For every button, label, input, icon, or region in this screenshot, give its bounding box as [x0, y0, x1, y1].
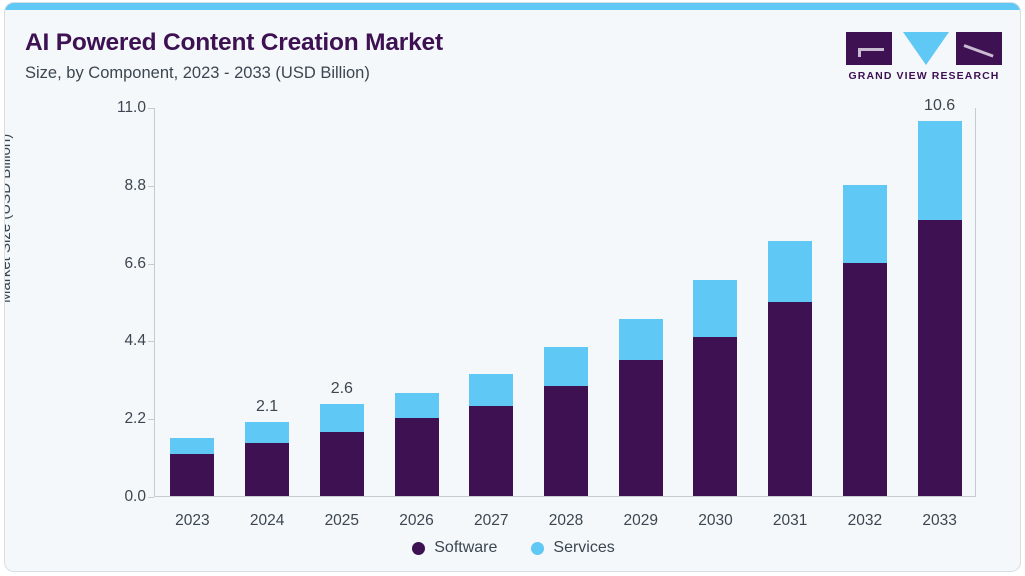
bar-group[interactable]: [544, 347, 588, 496]
bar-segment-software[interactable]: [320, 432, 364, 496]
chart-header: AI Powered Content Creation Market Size,…: [5, 10, 1020, 92]
bar-segment-services[interactable]: [469, 374, 513, 406]
legend-label: Services: [553, 539, 614, 557]
bar-group[interactable]: [768, 241, 812, 496]
logo-blocks: [846, 32, 1002, 65]
logo-g-block-icon: [846, 32, 892, 65]
bar-segment-software[interactable]: [768, 302, 812, 497]
bar-value-label: 2.6: [297, 380, 387, 398]
bar-group[interactable]: 2.1: [245, 422, 289, 496]
y-axis-tick-label: 2.2: [86, 410, 146, 428]
bar-group[interactable]: 10.6: [918, 121, 962, 496]
bar-segment-services[interactable]: [395, 393, 439, 418]
brand-logo: GRAND VIEW RESEARCH: [846, 32, 1002, 84]
logo-r-diagonal: [963, 44, 993, 57]
y-axis-tick-label: 0.0: [86, 488, 146, 506]
bar-segment-software[interactable]: [395, 418, 439, 496]
x-axis-tick-label: 2033: [895, 512, 985, 530]
bar-group[interactable]: [395, 393, 439, 496]
legend-item-services[interactable]: Services: [531, 539, 614, 557]
y-axis-tick-mark: [148, 497, 154, 498]
bar-segment-software[interactable]: [469, 406, 513, 496]
bar-group[interactable]: [469, 374, 513, 496]
bar-segment-services[interactable]: [619, 319, 663, 360]
logo-v-triangle-icon: [903, 32, 949, 65]
logo-r-block-icon: [956, 32, 1002, 65]
bar-segment-software[interactable]: [170, 454, 214, 496]
bar-group[interactable]: [693, 280, 737, 496]
bar-segment-services[interactable]: [170, 438, 214, 455]
bar-group[interactable]: 2.6: [320, 404, 364, 496]
plot-area: 20232.120242.620252026202720282029203020…: [154, 108, 976, 497]
bar-segment-software[interactable]: [245, 443, 289, 496]
plot-right-border: [975, 108, 976, 497]
bar-group[interactable]: [619, 319, 663, 496]
logo-g-bar: [858, 48, 884, 51]
bar-segment-software[interactable]: [843, 263, 887, 496]
bar-value-label: 2.1: [222, 398, 312, 416]
bar-segment-software[interactable]: [918, 220, 962, 496]
y-axis-tick-label: 8.8: [86, 177, 146, 195]
bar-segment-services[interactable]: [918, 121, 962, 220]
bar-segment-services[interactable]: [245, 422, 289, 443]
chart-legend: SoftwareServices: [5, 539, 1021, 557]
y-axis-tick-label: 6.6: [86, 255, 146, 273]
y-axis-tick-label: 4.4: [86, 332, 146, 350]
bar-segment-services[interactable]: [693, 280, 737, 337]
y-axis-tick-labels: 0.02.24.46.68.811.0: [80, 3, 146, 572]
logo-wordmark: GRAND VIEW RESEARCH: [846, 70, 1002, 82]
top-accent-bar: [5, 3, 1020, 10]
page-subtitle: Size, by Component, 2023 - 2033 (USD Bil…: [25, 64, 370, 83]
logo-g-tick: [858, 48, 861, 57]
bar-value-label: 10.6: [895, 97, 985, 115]
bar-group[interactable]: [843, 185, 887, 496]
y-axis-tick-label: 11.0: [86, 99, 146, 117]
bar-segment-software[interactable]: [619, 360, 663, 496]
y-axis-title: Market Size (USD Billion): [4, 134, 14, 303]
chart-card: AI Powered Content Creation Market Size,…: [4, 2, 1021, 572]
bar-group[interactable]: [170, 438, 214, 496]
bar-segment-services[interactable]: [320, 404, 364, 432]
bar-segment-software[interactable]: [693, 337, 737, 496]
legend-swatch-icon: [531, 542, 544, 555]
bar-segment-services[interactable]: [768, 241, 812, 301]
bar-segment-services[interactable]: [544, 347, 588, 386]
legend-swatch-icon: [412, 542, 425, 555]
bar-segment-software[interactable]: [544, 386, 588, 496]
bar-segment-services[interactable]: [843, 185, 887, 263]
legend-item-software[interactable]: Software: [412, 539, 497, 557]
legend-label: Software: [434, 539, 497, 557]
